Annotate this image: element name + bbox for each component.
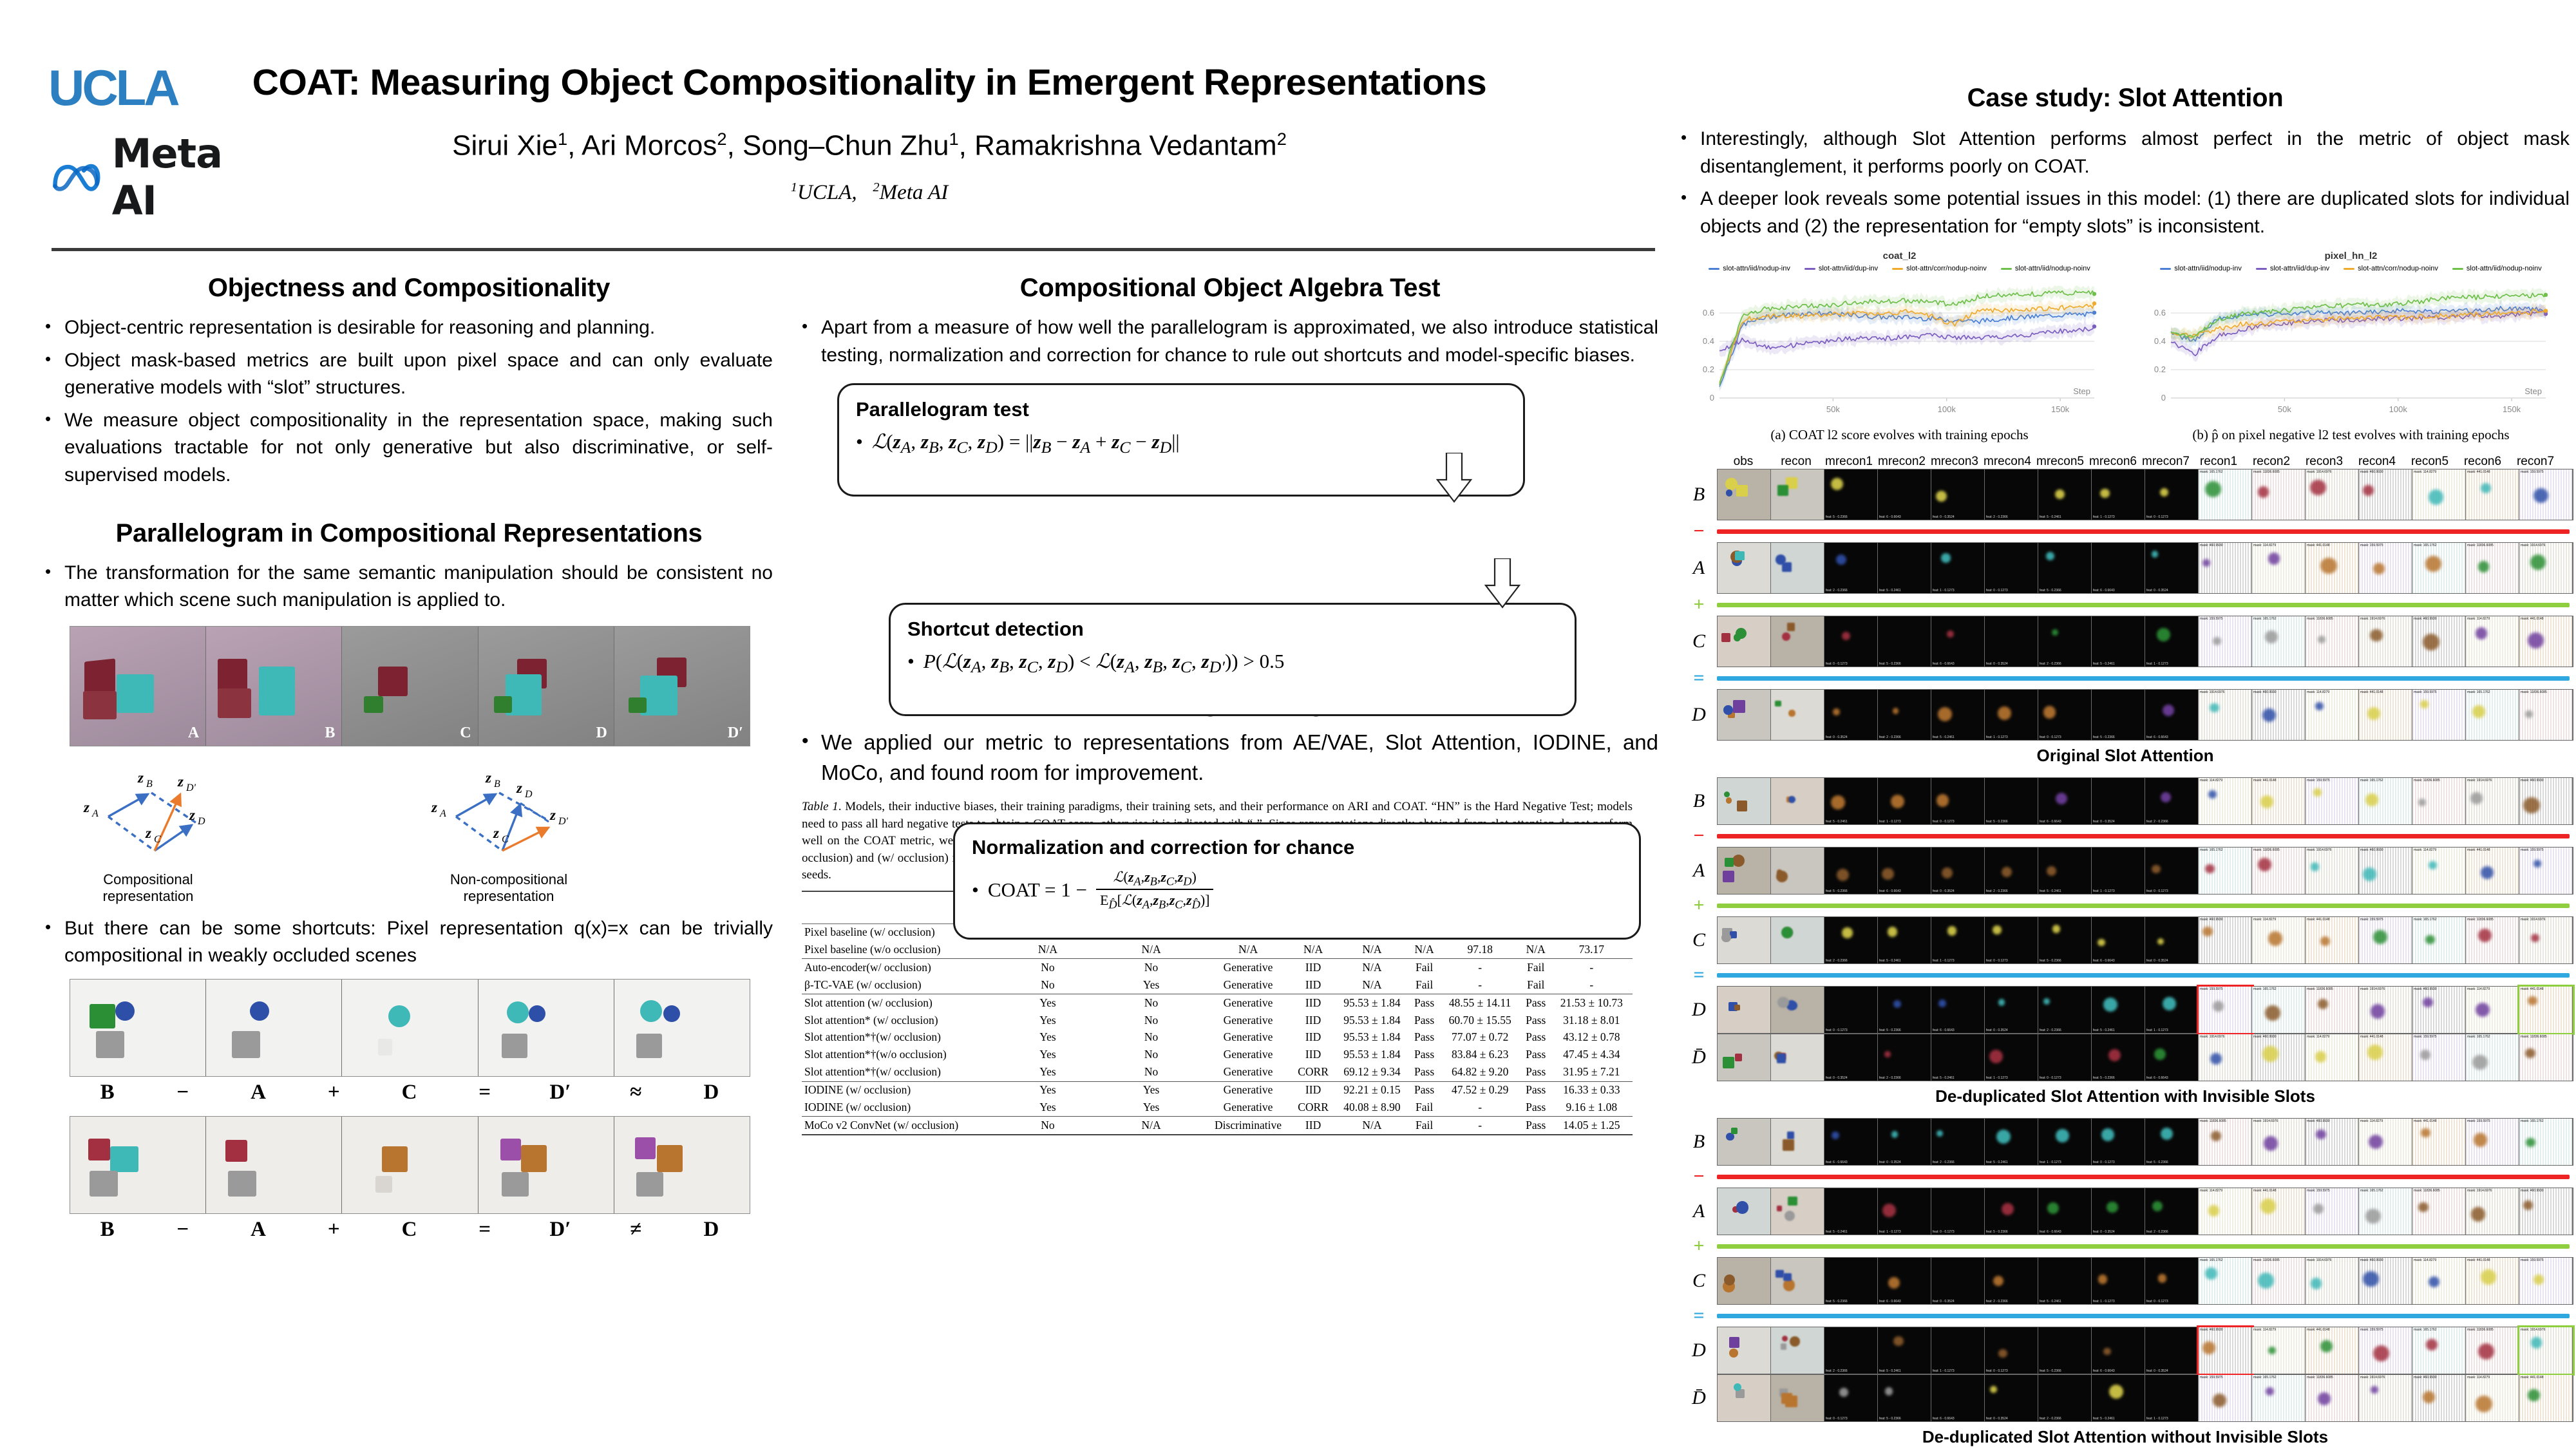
grid-cell: feat: 0 - 0.1273	[1824, 1375, 1878, 1421]
mask-value: mask: 159.5975	[2521, 470, 2544, 474]
grid-cell	[1718, 1034, 1771, 1081]
table-cell: Pass	[1521, 1012, 1551, 1029]
table-row: IODINE (w/ occlusion)YesYesGenerativeIID…	[802, 1081, 1633, 1099]
grid-operator-rule	[1717, 834, 2570, 838]
flow-box-formula: • ℒ(zA, zB, zC, zD) = ||zB − zA + zC − z…	[856, 430, 1506, 457]
grid-cell: feat: 5 - 0.2461	[2092, 987, 2145, 1033]
x-tick-label: 100k	[1938, 404, 1956, 414]
grid-cell: mask: 165.1762	[2199, 469, 2252, 520]
feat-value: feat: 5 - 0.2366	[2040, 589, 2061, 592]
table-row: Slot attention*†(w/ occlusion)YesNoGener…	[802, 1029, 1633, 1046]
bullet-icon: •	[45, 560, 54, 614]
mask-value: mask: 165.1762	[2414, 1328, 2437, 1332]
grid-cell: feat: 5 - 0.2366	[1985, 1188, 2038, 1235]
table-cell: 16.33 ± 0.33	[1551, 1081, 1633, 1099]
grid-row-label: C	[1681, 929, 1717, 951]
grid-row-label: C	[1681, 1270, 1717, 1292]
svg-text:z: z	[549, 807, 556, 823]
mask-value: mask: 114.8279	[2200, 1189, 2222, 1193]
table-cell: Yes	[998, 1099, 1098, 1116]
bullet-text: Object-centric representation is desirab…	[64, 314, 655, 342]
mask-value: mask: 165.1762	[2414, 544, 2437, 547]
table-cell: N/A	[1292, 942, 1334, 959]
svg-text:UCLA: UCLA	[48, 61, 179, 116]
svg-text:A: A	[91, 808, 99, 819]
grid-row-label: A	[1681, 1200, 1717, 1222]
feat-value: feat: 5 - 0.2366	[2040, 959, 2061, 963]
feat-value: feat: 5 - 0.2461	[1826, 820, 1848, 824]
eq-term: D′	[522, 1081, 598, 1104]
grid-cell: feat: 0 - 0.1273	[2145, 848, 2199, 894]
mask-value: mask: 441.0148	[2253, 779, 2277, 782]
table-row: Slot attention* (w/ occlusion)YesNoGener…	[802, 1012, 1633, 1029]
section-heading-objectness: Objectness and Compositionality	[45, 274, 773, 303]
legend-item: slot-attn/corr/nodup-noinv	[1892, 265, 1987, 272]
mask-value: mask: 165.1762	[2200, 848, 2223, 852]
grid-cell: feat: 6 - 0.6643	[2038, 778, 2092, 824]
grid-row-label: B	[1681, 1131, 1717, 1153]
grid-cell: feat: 5 - 0.2366	[1878, 987, 1931, 1033]
feat-value: feat: 5 - 0.2366	[1879, 1417, 1901, 1421]
bullet-icon: •	[802, 728, 811, 788]
feat-value: feat: 0 - 0.1273	[2146, 515, 2168, 519]
feat-value: feat: 1 - 0.1273	[1879, 820, 1901, 824]
grid-cell: feat: 5 - 0.2461	[1931, 690, 1985, 740]
mask-value: mask: 165.1762	[2467, 690, 2490, 694]
legend-label: slot-attn/iid/nodup-noinv	[2467, 265, 2542, 272]
table-cell: N/A	[1334, 959, 1409, 976]
table-cell: Yes	[998, 1029, 1098, 1046]
y-tick-label: 0.2	[1703, 365, 1714, 374]
grid-cell: mask: 114.8279	[2199, 778, 2252, 824]
feat-value: feat: 1 - 0.1273	[1879, 1230, 1901, 1234]
mask-value: mask: 460.9930	[2414, 1376, 2437, 1379]
grid-operator-rule	[1717, 1244, 2570, 1249]
grid-row-label: B	[1681, 790, 1717, 812]
table-row: Pixel baseline (w/o occlusion)N/AN/AN/AN…	[802, 942, 1633, 959]
mask-value: mask: 441.0148	[2307, 544, 2330, 547]
grid-cell: feat: 6 - 0.6643	[1931, 987, 1985, 1033]
grid-cell	[1718, 1119, 1771, 1165]
mask-value: mask: 441.0148	[2467, 1258, 2490, 1262]
feat-value: feat: 5 - 0.2461	[2040, 515, 2061, 519]
grid-cell: feat: 0 - 0.1273	[2145, 469, 2199, 520]
y-tick-label: 0.4	[2154, 336, 2166, 346]
mask-value: mask: 441.0148	[2414, 1119, 2437, 1123]
table-cell: β-TC-VAE (w/ occlusion)	[802, 976, 998, 994]
feat-value: feat: 6 - 0.6643	[1933, 1417, 1955, 1421]
grid-cell: mask: 159.5975	[2412, 690, 2466, 740]
mask-value: mask: 114.8279	[2307, 1035, 2329, 1039]
mask-value: mask: 165.1762	[2253, 987, 2277, 991]
y-tick-label: 0.4	[1703, 336, 1714, 346]
grid-cell: feat: 1 - 0.1273	[1985, 1034, 2038, 1081]
table-cell: 95.53 ± 1.84	[1334, 1029, 1409, 1046]
grid-column-header: mrecon7	[2139, 455, 2192, 469]
y-tick-label: 0	[1710, 393, 1714, 402]
grid-cell: mask: 1914.6976	[2359, 987, 2412, 1033]
table-row: Slot attention (w/ occlusion)YesNoGenera…	[802, 994, 1633, 1012]
table-cell: 47.52 ± 0.29	[1439, 1081, 1521, 1099]
table-cell: 95.53 ± 1.84	[1334, 1046, 1409, 1064]
mask-value: mask: 441.0148	[2360, 690, 2383, 694]
grid-column-header: mrecon2	[1875, 455, 1928, 469]
grid-cell: feat: 5 - 0.2461	[2038, 1258, 2092, 1304]
grid-cell: feat: 6 - 0.6643	[1878, 469, 1931, 520]
grid-cell: mask: 165.1762	[2412, 543, 2466, 593]
mask-value: mask: 11836.6085	[2307, 987, 2333, 991]
bullet-text: A deeper look reveals some potential iss…	[1700, 185, 2570, 240]
meta-infinity-icon	[50, 158, 104, 196]
eq-term: D′	[522, 1218, 598, 1242]
feat-value: feat: 1 - 0.1273	[1933, 1369, 1955, 1373]
grid-cell: mask: 1914.6976	[2519, 543, 2573, 593]
x-tick-label: 100k	[2389, 404, 2408, 414]
table-cell: Pass	[1521, 1029, 1551, 1046]
mask-value: mask: 11836.6085	[2253, 848, 2280, 852]
mask-value: mask: 114.8279	[2467, 617, 2490, 621]
y-tick-label: 0.2	[2154, 365, 2166, 374]
flow-arrow-2-icon	[1484, 558, 1522, 609]
author-list: Sirui Xie1, Ari Morcos2, Song–Chun Zhu1,…	[225, 129, 1513, 162]
grid-cell: feat: 5 - 0.2461	[1878, 917, 1931, 963]
feat-value: feat: 0 - 0.1273	[1986, 589, 2008, 592]
parallelogram-bullets: • The transformation for the same semant…	[45, 560, 773, 614]
grid-cell: feat: 5 - 0.2366	[2038, 1327, 2092, 1374]
legend-swatch	[1804, 268, 1815, 270]
legend-item: slot-attn/corr/nodup-noinv	[2344, 265, 2438, 272]
mask-value: mask: 114.8279	[2467, 987, 2490, 991]
mask-value: mask: 159.5975	[2414, 1035, 2437, 1039]
table-cell: 92.21 ± 0.15	[1334, 1081, 1409, 1099]
grid-cell: mask: 114.8279	[2252, 543, 2306, 593]
table-cell: IID	[1292, 994, 1334, 1012]
mask-value: mask: 11836.6085	[2253, 1258, 2280, 1262]
table-cell: Generative	[1204, 976, 1292, 994]
grid-cell: mask: 159.5975	[2199, 1375, 2252, 1421]
svg-text:D': D'	[185, 782, 196, 793]
svg-text:z: z	[145, 825, 151, 841]
feat-value: feat: 0 - 0.1273	[1986, 1369, 2008, 1373]
feat-value: feat: 5 - 0.2366	[2093, 735, 2115, 739]
table-row: Slot attention*†(w/ occlusion)YesNoGener…	[802, 1064, 1633, 1081]
feat-value: feat: 0 - 0.3524	[2146, 959, 2168, 963]
mask-value: mask: 159.5975	[2307, 1189, 2330, 1193]
grid-operator-rule	[1717, 676, 2570, 681]
grid-row-label: D̄	[1681, 1387, 1717, 1409]
table-cell: Pass	[1410, 994, 1439, 1012]
table-cell: Fail	[1410, 959, 1439, 976]
grid-cell: feat: 1 - 0.1273	[2038, 1119, 2092, 1165]
table-cell: CORR	[1292, 1099, 1334, 1116]
grid-cell: mask: 11836.6085	[2519, 690, 2573, 740]
feat-value: feat: 0 - 0.1273	[1986, 959, 2008, 963]
svg-text:z: z	[177, 773, 184, 790]
grid-cell	[1718, 690, 1771, 740]
grid-cell: feat: 5 - 0.2461	[1878, 1327, 1931, 1374]
flow-box-formula: • COAT = 1 − ℒ(zA,zB,zC,zD) ED̂[ℒ(zA,zB,…	[972, 868, 1622, 913]
poster-canvas: UCLA Meta AI COAT: Measuring Object Comp…	[0, 0, 2576, 1449]
grid-cell: mask: 11836.6085	[2466, 917, 2519, 963]
table-cell: N/A	[1521, 942, 1551, 959]
grid-column-header: mrecon5	[2034, 455, 2087, 469]
grid-operator-symbol: =	[1681, 667, 1717, 689]
mask-value: mask: 11836.6085	[2467, 544, 2494, 547]
mask-value: mask: 114.8279	[2467, 1376, 2490, 1379]
grid-cell: feat: 5 - 0.2366	[2038, 543, 2092, 593]
mask-value: mask: 441.0148	[2467, 848, 2490, 852]
feat-value: feat: 6 - 0.6643	[2093, 589, 2115, 592]
mask-value: mask: 1914.6976	[2467, 1189, 2492, 1193]
grid-cell	[1771, 469, 1824, 520]
grid-cell: mask: 441.0148	[2359, 1034, 2412, 1081]
feat-value: feat: 5 - 0.2366	[1986, 820, 2008, 824]
feat-value: feat: 0 - 0.1273	[2040, 1076, 2061, 1080]
feat-value: feat: 5 - 0.2461	[2093, 1417, 2115, 1421]
feat-value: feat: 0 - 0.3524	[2146, 1369, 2168, 1373]
feat-value: feat: 2 - 0.2366	[2040, 662, 2061, 666]
table-cell: Pass	[1521, 1064, 1551, 1081]
table-cell: 60.70 ± 15.55	[1439, 1012, 1521, 1029]
grid-column-header: recon5	[2403, 455, 2456, 469]
grid-cell: feat: 6 - 0.6643	[2038, 1188, 2092, 1235]
table-cell: 47.45 ± 4.34	[1551, 1046, 1633, 1064]
mask-value: mask: 165.1762	[2253, 1376, 2277, 1379]
table-cell: Generative	[1204, 1012, 1292, 1029]
coat-flow-diagram: Parallelogram test • ℒ(zA, zB, zC, zD) =…	[802, 383, 1658, 679]
grid-column-header: recon1	[2192, 455, 2245, 469]
table-cell: IID	[1292, 976, 1334, 994]
flow-box-title: Shortcut detection	[907, 618, 1558, 641]
feat-value: feat: 6 - 0.6643	[1879, 515, 1901, 519]
grid-cell: mask: 165.1762	[2252, 987, 2306, 1033]
feat-value: feat: 1 - 0.1273	[2146, 662, 2168, 666]
mask-value: mask: 114.8279	[2253, 544, 2276, 547]
grid-cell: feat: 5 - 0.2461	[2038, 848, 2092, 894]
grid-cell: mask: 11836.6085	[2306, 616, 2359, 667]
table-cell: 21.53 ± 10.73	[1551, 994, 1633, 1012]
grid-cell: mask: 165.1762	[2359, 1188, 2412, 1235]
grid-cell	[1771, 1375, 1824, 1421]
grid-cell: feat: 1 - 0.1273	[1931, 917, 1985, 963]
table-cell: N/A	[998, 942, 1098, 959]
svg-text:D: D	[524, 789, 533, 800]
table-cell: IID	[1292, 1046, 1334, 1064]
grid-cell: mask: 165.1762	[2199, 848, 2252, 894]
grid-column-header: recon6	[2456, 455, 2509, 469]
mask-value: mask: 1914.6976	[2200, 690, 2224, 694]
table-cell: -	[1551, 959, 1633, 976]
eq-term: A	[220, 1218, 296, 1242]
grid-cell: mask: 441.0148	[2306, 917, 2359, 963]
table-cell: IODINE (w/ occlusion)	[802, 1081, 998, 1099]
grid-cell: feat: 6 - 0.6643	[2145, 690, 2199, 740]
grid-cell	[1771, 543, 1824, 593]
table-cell: Fail	[1410, 1117, 1439, 1135]
grid-caption-original: Original Slot Attention	[1681, 746, 2570, 766]
bullet-icon: •	[45, 407, 54, 489]
table-cell: Generative	[1204, 1064, 1292, 1081]
grid-cell: mask: 114.8279	[2252, 1327, 2306, 1374]
feat-value: feat: 6 - 0.6643	[1879, 889, 1901, 893]
figure-caption-b: (b) p̂ on pixel negative l2 test evolves…	[2132, 427, 2570, 443]
grid-cell: mask: 11836.6085	[2252, 1258, 2306, 1304]
mask-value: mask: 460.9930	[2360, 470, 2383, 474]
table-cell: 64.82 ± 9.20	[1439, 1064, 1521, 1081]
grid-cell: mask: 1914.6976	[2252, 1119, 2306, 1165]
grid-cell: mask: 165.1762	[2466, 690, 2519, 740]
grid-operator-symbol: +	[1681, 1235, 1717, 1257]
mask-value: mask: 460.9930	[2200, 918, 2223, 922]
grid-cell: feat: 2 - 0.2366	[1878, 1034, 1931, 1081]
grid-cell: mask: 441.0148	[2519, 1375, 2573, 1421]
mask-value: mask: 441.0148	[2467, 470, 2490, 474]
grid-cell: mask: 441.0148	[2519, 987, 2573, 1033]
svg-text:z: z	[83, 799, 90, 815]
table-cell: Pass	[1410, 1081, 1439, 1099]
table-cell: IID	[1292, 1117, 1334, 1135]
diagram-caption-compositional: Compositional representation	[58, 871, 238, 905]
grid-caption-dedup-without-invisible: De-duplicated Slot Attention without Inv…	[1681, 1427, 2570, 1447]
flow-arrow-1-icon	[1436, 453, 1473, 503]
mask-value: mask: 165.1762	[2200, 1258, 2223, 1262]
bullet-text: We measure object compositionality in th…	[64, 407, 773, 489]
grid-column-header: mrecon3	[1928, 455, 1981, 469]
grid-cell: mask: 441.0148	[2466, 848, 2519, 894]
mask-value: mask: 460.9930	[2521, 779, 2544, 782]
grid-cell: mask: 441.0148	[2306, 543, 2359, 593]
table-cell: 69.12 ± 9.34	[1334, 1064, 1409, 1081]
grid-cell: feat: 1 - 0.1273	[1878, 1188, 1931, 1235]
scene-cell	[206, 980, 342, 1076]
diagram-caption-noncompositional: Non-compositional representation	[406, 871, 612, 905]
mask-value: mask: 1914.6976	[2200, 1035, 2224, 1039]
grid-cell: feat: 2 - 0.2366	[1824, 1327, 1878, 1374]
mask-value: mask: 114.8279	[2200, 779, 2222, 782]
feat-value: feat: 2 - 0.2366	[1879, 1076, 1901, 1080]
feat-value: feat: 5 - 0.2366	[2093, 1076, 2115, 1080]
table-cell: N/A	[1204, 942, 1292, 959]
grid-cell: mask: 460.9930	[2252, 690, 2306, 740]
grid-cell: feat: 1 - 0.1273	[2092, 848, 2145, 894]
feat-value: feat: 0 - 0.1273	[1826, 1028, 1848, 1032]
grid-column-header: mrecon4	[1981, 455, 2034, 469]
grid-cell: feat: 1 - 0.1273	[2092, 469, 2145, 520]
scene-cell-d: D	[478, 627, 614, 746]
page-title: COAT: Measuring Object Compositionality …	[225, 61, 1513, 104]
grid-operator-symbol: =	[1681, 964, 1717, 986]
mask-value: mask: 1914.6976	[2307, 1258, 2331, 1262]
table-cell: Slot attention* (w/ occlusion)	[802, 1012, 998, 1029]
chart-canvas-a: 00.20.40.650k100k150kStep	[1681, 272, 2106, 424]
grid-cell: feat: 5 - 0.2366	[1985, 778, 2038, 824]
legend-label: slot-attn/corr/nodup-noinv	[2358, 265, 2438, 272]
table-cell: Slot attention*†(w/o occlusion)	[802, 1046, 998, 1064]
grid-cell: feat: 5 - 0.2461	[1985, 1119, 2038, 1165]
grid-cell: feat: 6 - 0.6643	[1931, 616, 1985, 667]
table-cell: Pass	[1521, 1117, 1551, 1135]
section-heading-parallelogram: Parallelogram in Compositional Represent…	[45, 519, 773, 548]
x-tick-label: 50k	[2278, 404, 2291, 414]
mask-value: mask: 1914.6976	[2360, 1376, 2385, 1379]
x-axis-label: Step	[2524, 386, 2542, 396]
table-cell: N/A	[1410, 942, 1439, 959]
svg-text:z: z	[431, 799, 437, 815]
x-tick-label: 150k	[2503, 404, 2521, 414]
grid-operator-rule	[1717, 603, 2570, 607]
grid-cell	[1771, 690, 1824, 740]
legend-item: slot-attn/iid/nodup-noinv	[2452, 265, 2542, 272]
feat-value: feat: 6 - 0.6643	[2146, 1076, 2168, 1080]
mask-value: mask: 165.1762	[2360, 1189, 2383, 1193]
mask-value: mask: 159.5975	[2521, 1258, 2544, 1262]
training-curve-figures: coat_l2 slot-attn/iid/nodup-invslot-attn…	[1681, 251, 2570, 443]
feat-value: feat: 0 - 0.3524	[1986, 1417, 2008, 1421]
grid-operator-symbol: −	[1681, 1166, 1717, 1188]
legend-label: slot-attn/iid/dup-inv	[2270, 265, 2329, 272]
grid-row-label: D	[1681, 999, 1717, 1021]
feat-value: feat: 0 - 0.3524	[1826, 735, 1848, 739]
grid-cell: feat: 5 - 0.2366	[2038, 917, 2092, 963]
bullet-icon: •	[45, 915, 54, 970]
grid-cell	[1771, 616, 1824, 667]
mask-value: mask: 114.8279	[2414, 848, 2436, 852]
mask-value: mask: 460.9930	[2414, 617, 2437, 621]
mask-value: mask: 165.1762	[2253, 617, 2277, 621]
table-cell: -	[1439, 1117, 1521, 1135]
legend-item: slot-attn/iid/nodup-noinv	[2001, 265, 2090, 272]
grid-cell: mask: 460.9930	[2199, 1327, 2252, 1374]
legend-swatch	[1892, 268, 1903, 270]
grid-cell: feat: 0 - 0.1273	[1824, 987, 1878, 1033]
grid-operator-rule	[1717, 529, 2570, 534]
table-cell: IID	[1292, 959, 1334, 976]
table-cell: Generative	[1204, 1029, 1292, 1046]
mask-value: mask: 159.5975	[2307, 779, 2330, 782]
feat-value: feat: 0 - 0.1273	[1933, 1230, 1955, 1234]
grid-cell: feat: 2 - 0.2366	[1824, 917, 1878, 963]
table-row: Auto-encoder(w/ occlusion)NoNoGenerative…	[802, 959, 1633, 976]
feat-value: feat: 2 - 0.2366	[2040, 1028, 2061, 1032]
mask-value: mask: 114.8279	[2414, 1258, 2436, 1262]
grid-cell: feat: 6 - 0.6643	[2092, 1327, 2145, 1374]
feat-value: feat: 1 - 0.1273	[1933, 959, 1955, 963]
scene-strip-middle	[70, 979, 750, 1077]
grid-cell: mask: 11836.6085	[2466, 1327, 2519, 1374]
case-study-bullets: • Interestingly, although Slot Attention…	[1681, 126, 2570, 240]
grid-cell: mask: 441.0148	[2412, 1119, 2466, 1165]
grid-cell	[1771, 1119, 1824, 1165]
legend-swatch	[2001, 268, 2012, 270]
table-cell: Slot attention*†(w/ occlusion)	[802, 1064, 998, 1081]
feat-value: feat: 5 - 0.2461	[1826, 1230, 1848, 1234]
table-cell: Pass	[1521, 1081, 1551, 1099]
eq-op: −	[145, 1218, 220, 1242]
grid-cell	[1771, 1258, 1824, 1304]
grid-cell: feat: 0 - 0.1273	[2038, 690, 2092, 740]
scene-cell	[70, 1117, 206, 1213]
scene-strip-top: A B C D D′	[70, 626, 750, 746]
grid-cell: feat: 1 - 0.1273	[1931, 543, 1985, 593]
table-cell: Fail	[1410, 976, 1439, 994]
header-divider	[52, 248, 1655, 251]
grid-cell: feat: 2 - 0.2366	[2145, 1188, 2199, 1235]
feat-value: feat: 6 - 0.6643	[2040, 1230, 2061, 1234]
table-cell: Pass	[1521, 1099, 1551, 1116]
table-cell: Fail	[1521, 976, 1551, 994]
mask-value: mask: 460.9930	[2360, 1258, 2383, 1262]
table-cell: Generative	[1204, 994, 1292, 1012]
